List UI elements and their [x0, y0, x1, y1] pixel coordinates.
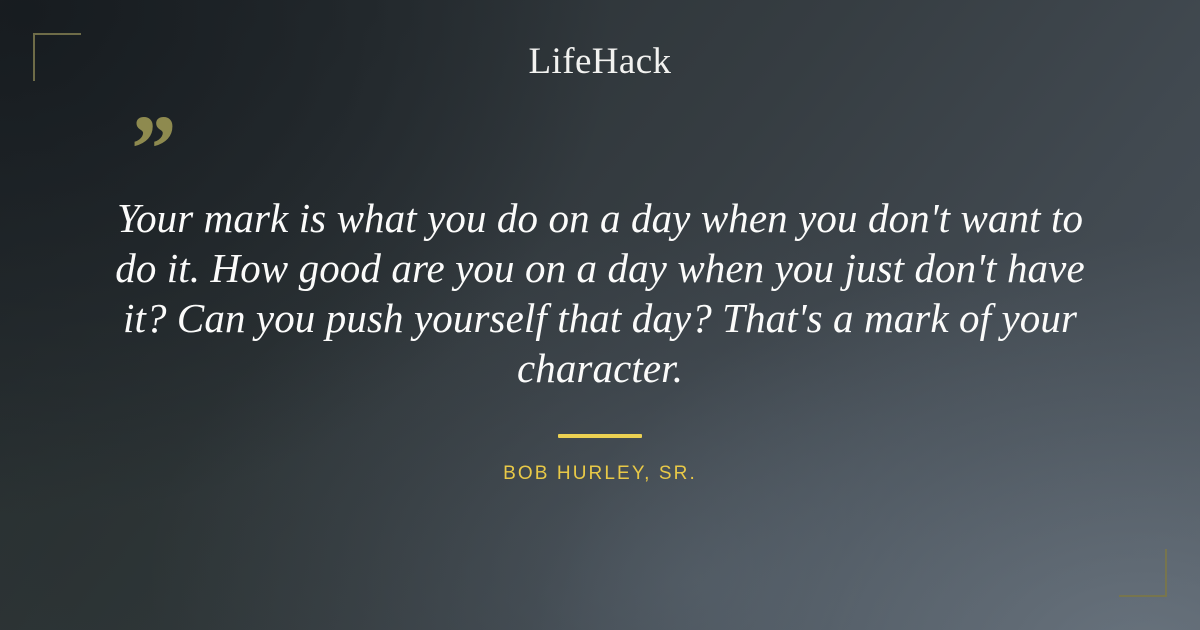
- attribution-divider: [558, 434, 642, 438]
- brand-logo: LifeHack: [0, 40, 1200, 83]
- quote-text: Your mark is what you do on a day when y…: [95, 193, 1105, 393]
- quote-author: BOB HURLEY, SR.: [0, 463, 1200, 485]
- quote-mark-icon: ”: [126, 101, 174, 197]
- corner-bracket-bottom-right-icon: [1119, 549, 1167, 597]
- quote-card: LifeHack ” Your mark is what you do on a…: [0, 0, 1200, 630]
- quote-block: Your mark is what you do on a day when y…: [95, 193, 1105, 393]
